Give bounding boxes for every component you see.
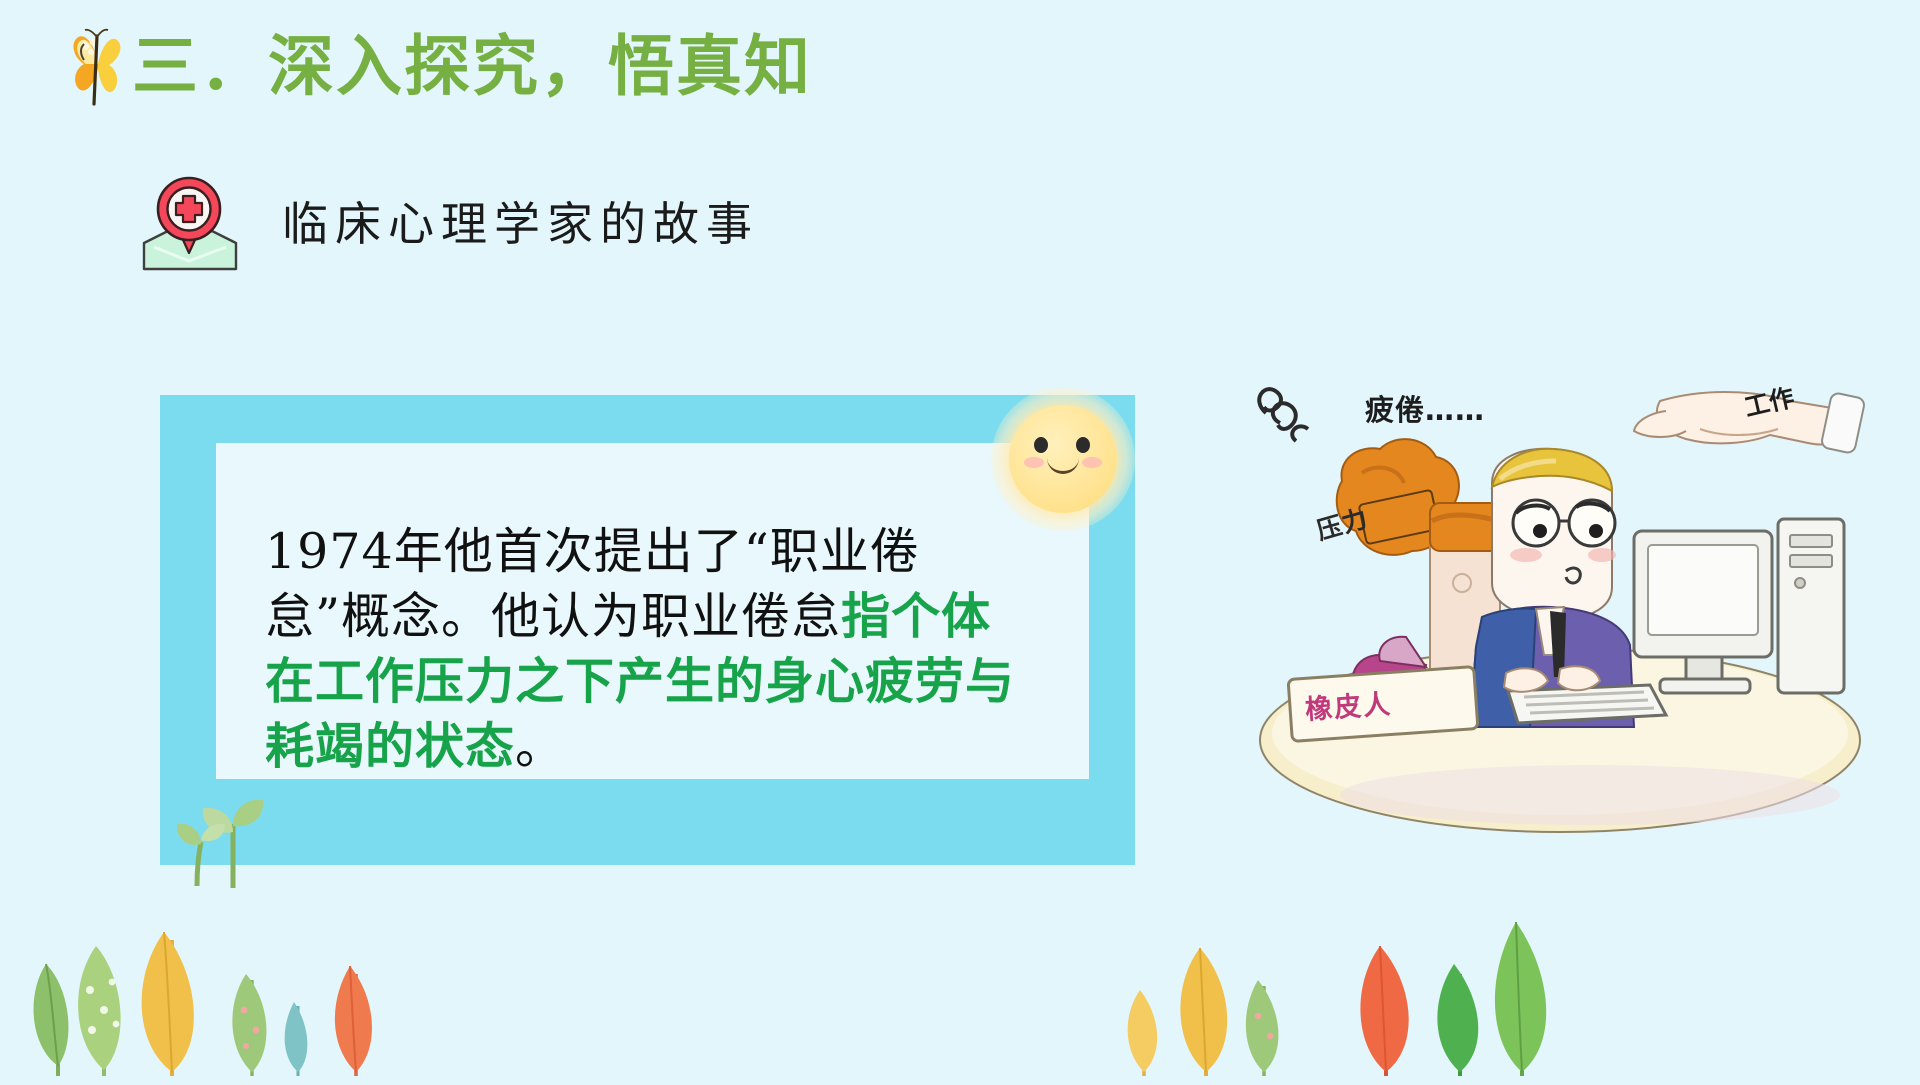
butterfly-icon: [68, 24, 128, 108]
cartoon-desk-sign-label: 橡皮人: [1304, 682, 1394, 727]
paragraph-plain-before: 1974年他首次提出了“职业倦怠”概念。他认为职业倦怠: [265, 523, 920, 645]
subtitle-label: 临床心理学家的故事: [282, 188, 759, 254]
sun-eye-right: [1076, 437, 1090, 453]
bottom-plant-decoration: [0, 870, 1920, 1080]
medical-cross-pin-icon: [130, 169, 248, 273]
page-title: 三．深入探究，悟真知: [132, 33, 812, 99]
sun-cheek-right: [1082, 457, 1102, 468]
cartoon-artwork: [1230, 355, 1910, 835]
content-paragraph: 1974年他首次提出了“职业倦怠”概念。他认为职业倦怠指个体在工作压力之下产生的…: [265, 519, 1015, 780]
sun-cheek-left: [1024, 457, 1044, 468]
cartoon-label-tired: 疲倦……: [1365, 387, 1485, 429]
subtitle-row: 临床心理学家的故事: [130, 166, 759, 276]
smiling-sun-decoration: [991, 387, 1135, 531]
burnout-cartoon-illustration: 疲倦…… 工作 压力 橡皮人: [1230, 355, 1910, 835]
paragraph-plain-after: 。: [515, 718, 565, 775]
slide-canvas: 三．深入探究，悟真知 临床心理学家的故事 1974年他首次提出了“职业倦怠”概念…: [0, 0, 1920, 1080]
slide-title-row: 三．深入探究，悟真知: [68, 18, 812, 114]
sun-eye-left: [1034, 437, 1048, 453]
